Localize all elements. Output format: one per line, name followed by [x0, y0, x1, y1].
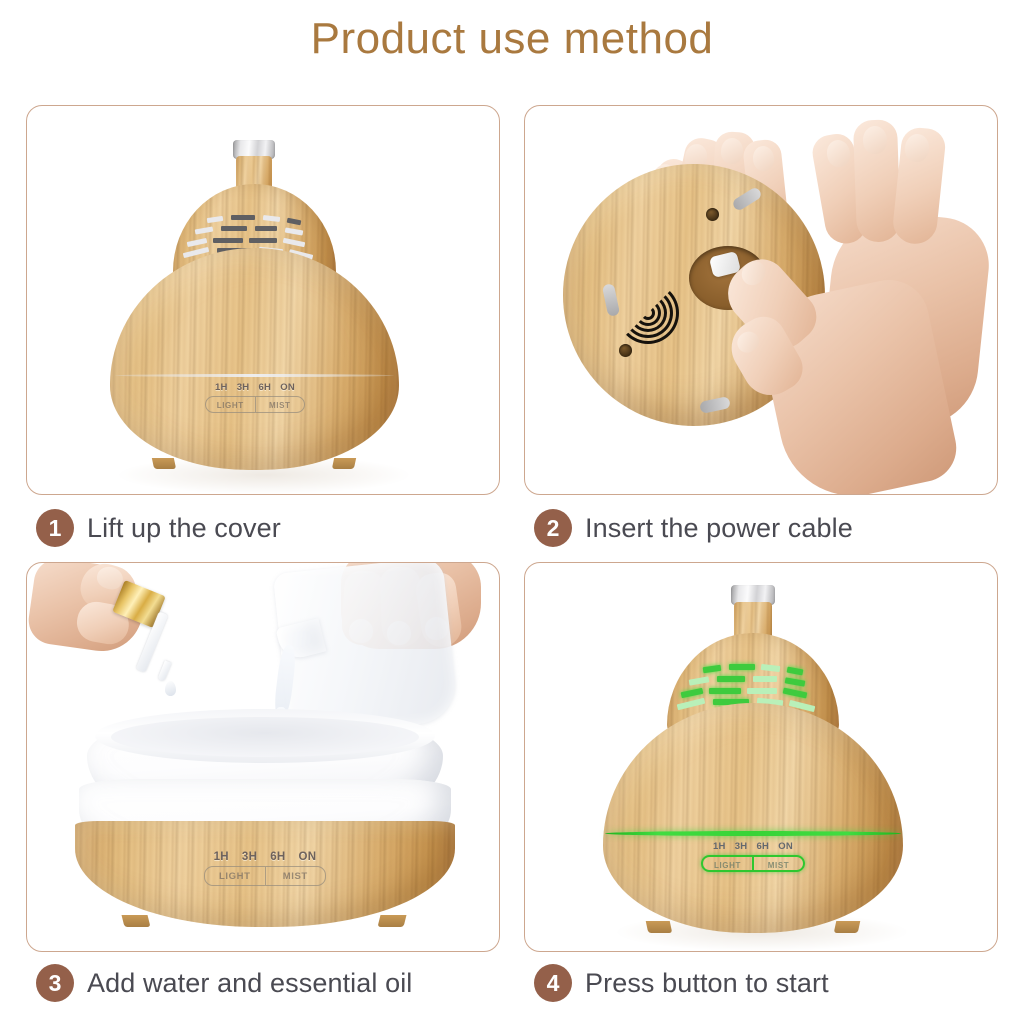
- right-hand-plugging: [721, 246, 951, 495]
- timer-labels: 1H 3H 6H ON: [204, 382, 306, 393]
- vent-slot: [677, 698, 706, 711]
- tank-cavity: [111, 717, 419, 757]
- vent-slot: [787, 667, 804, 676]
- foot-left: [646, 921, 673, 933]
- step-badge-1: 1: [36, 509, 74, 547]
- vent-slot: [681, 688, 704, 698]
- foot-right: [378, 915, 407, 927]
- timer-on[interactable]: ON: [778, 841, 793, 852]
- lit-control-panel[interactable]: 1H 3H 6H ON LIGHT MIST: [699, 841, 807, 872]
- control-buttons: LIGHT MIST: [204, 866, 326, 886]
- vent-slot: [187, 238, 208, 247]
- vent-slot: [747, 688, 777, 694]
- step-caption-4: 4 Press button to start: [534, 960, 829, 1006]
- panel-2-scene: [525, 106, 997, 494]
- vent-slot: [761, 664, 781, 672]
- right-nail-2: [863, 126, 888, 155]
- vent-slot: [249, 238, 277, 243]
- panel-4-scene: 1H 3H 6H ON LIGHT MIST: [525, 563, 997, 951]
- diffuser-body: [603, 703, 903, 933]
- screw-top: [706, 208, 719, 221]
- screw-left: [619, 344, 632, 357]
- timer-on[interactable]: ON: [280, 382, 295, 393]
- foot-left: [122, 915, 151, 927]
- vent-slot: [195, 226, 214, 234]
- vent-slot: [263, 215, 280, 222]
- timer-on[interactable]: ON: [299, 851, 317, 863]
- foot-right: [834, 921, 861, 933]
- oil-droplet: [165, 681, 176, 696]
- timer-3h[interactable]: 3H: [242, 851, 257, 863]
- vent-slot: [729, 664, 755, 670]
- timer-1h[interactable]: 1H: [713, 841, 726, 852]
- vent-slot: [285, 227, 304, 235]
- diffuser-body: [110, 248, 399, 470]
- light-button[interactable]: LIGHT: [703, 857, 752, 870]
- rubber-foot-top: [731, 186, 763, 212]
- step-card-4: 1H 3H 6H ON LIGHT MIST: [524, 562, 998, 952]
- timer-6h[interactable]: 6H: [270, 851, 285, 863]
- timer-3h[interactable]: 3H: [237, 382, 250, 393]
- timer-1h[interactable]: 1H: [215, 382, 228, 393]
- step-card-1: 1H 3H 6H ON LIGHT MIST: [26, 105, 500, 495]
- control-panel[interactable]: 1H 3H 6H ON LIGHT MIST: [190, 851, 340, 886]
- vent-slot: [717, 676, 745, 682]
- timer-labels: 1H 3H 6H ON: [190, 851, 340, 863]
- timer-1h[interactable]: 1H: [214, 851, 229, 863]
- dropper-tip: [158, 660, 172, 681]
- mist-button[interactable]: MIST: [255, 397, 305, 412]
- vent-slot: [213, 238, 243, 243]
- vent-slot: [255, 226, 277, 231]
- step-label-1: Lift up the cover: [87, 513, 281, 544]
- vent-slot: [231, 215, 255, 220]
- step-caption-2: 2 Insert the power cable: [534, 505, 853, 551]
- control-buttons: LIGHT MIST: [205, 396, 305, 413]
- fan-arc: [617, 282, 679, 344]
- vent-slot: [783, 688, 808, 699]
- fan-vent: [619, 284, 677, 342]
- step-label-4: Press button to start: [585, 968, 829, 999]
- step-badge-4: 4: [534, 964, 572, 1002]
- step-label-2: Insert the power cable: [585, 513, 853, 544]
- body-seam: [115, 374, 394, 377]
- foot-right: [332, 458, 356, 469]
- mist-button[interactable]: MIST: [265, 867, 326, 885]
- timer-6h[interactable]: 6H: [756, 841, 769, 852]
- vent-slot: [689, 676, 710, 685]
- step-badge-3: 3: [36, 964, 74, 1002]
- timer-6h[interactable]: 6H: [258, 382, 271, 393]
- mist-button[interactable]: MIST: [752, 857, 803, 870]
- vent-slot: [283, 238, 306, 247]
- vent-slot: [703, 665, 722, 673]
- vent-slot: [785, 677, 806, 686]
- foot-left: [152, 458, 176, 469]
- light-button[interactable]: LIGHT: [206, 397, 255, 412]
- rubber-foot-left: [602, 283, 620, 317]
- step-card-3: 1H 3H 6H ON LIGHT MIST: [26, 562, 500, 952]
- control-buttons: LIGHT MIST: [701, 855, 805, 872]
- timer-labels: 1H 3H 6H ON: [699, 841, 807, 852]
- light-button[interactable]: LIGHT: [205, 867, 265, 885]
- infographic-page: Product use method: [0, 0, 1024, 1024]
- step-label-3: Add water and essential oil: [87, 968, 412, 999]
- panel-3-scene: 1H 3H 6H ON LIGHT MIST: [27, 563, 499, 951]
- page-title: Product use method: [0, 14, 1024, 64]
- vent-slot: [221, 226, 247, 231]
- green-seam-light: [605, 831, 901, 836]
- timer-3h[interactable]: 3H: [735, 841, 748, 852]
- vent-slot: [753, 676, 777, 682]
- step-card-2: [524, 105, 998, 495]
- oil-dropper: [115, 585, 211, 713]
- vent-slot: [207, 216, 224, 223]
- step-caption-1: 1 Lift up the cover: [36, 505, 281, 551]
- step-badge-2: 2: [534, 509, 572, 547]
- panel-1-scene: 1H 3H 6H ON LIGHT MIST: [27, 106, 499, 494]
- step-caption-3: 3 Add water and essential oil: [36, 960, 412, 1006]
- control-panel[interactable]: 1H 3H 6H ON LIGHT MIST: [204, 382, 306, 413]
- vent-slot: [287, 218, 302, 226]
- vent-slot: [709, 688, 741, 694]
